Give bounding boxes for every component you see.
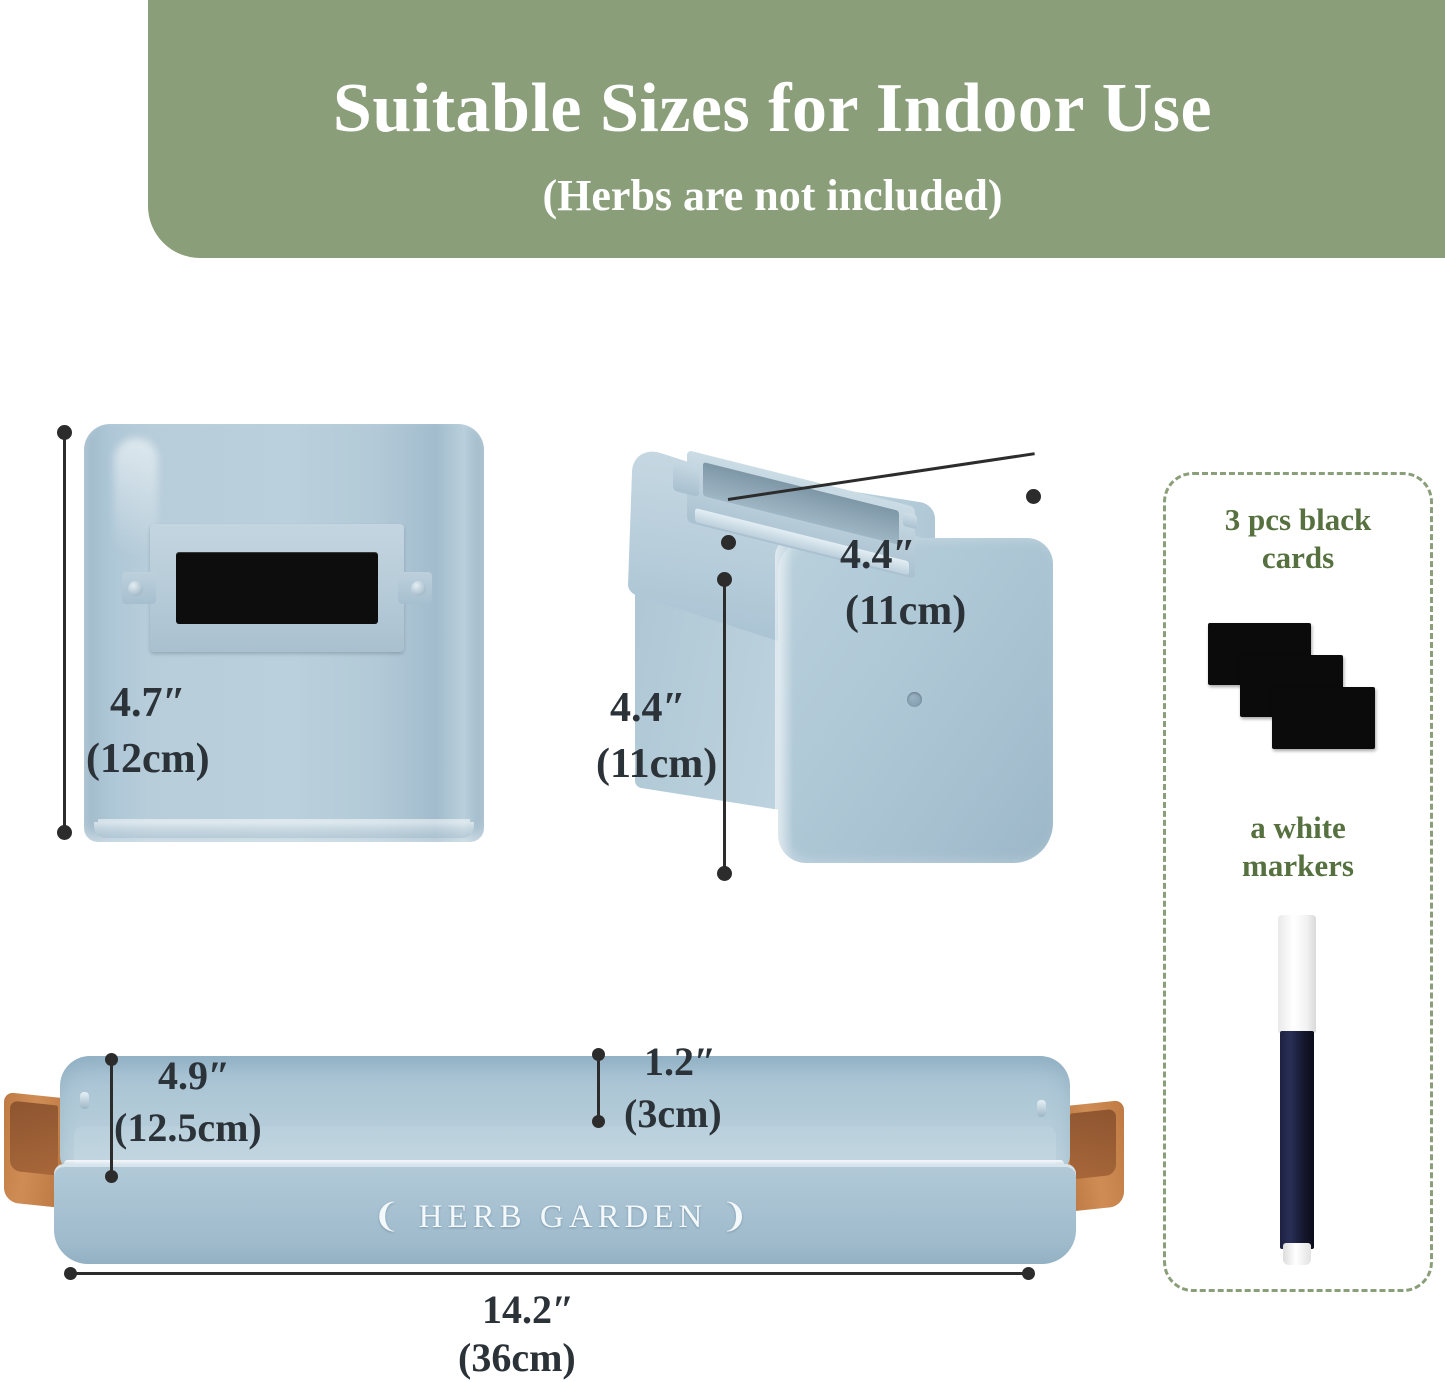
label-holder-tab-left [673,461,699,497]
white-marker-caption: a white markers [1166,809,1430,885]
white-marker-caption-line1: a white [1250,810,1346,845]
drain-hole-icon [907,692,922,707]
accessories-panel: 3 pcs black cards a white markers [1163,472,1433,1292]
dimension-endpoint-top [57,425,72,440]
dimension-endpoint-top [105,1053,118,1066]
white-marker-caption-line2: markers [1242,848,1354,883]
page-subtitle: (Herbs are not included) [148,174,1397,218]
black-label-card [176,552,378,624]
planter-front-height-cm: (12cm) [86,736,210,783]
page-title: Suitable Sizes for Indoor Use [148,74,1397,144]
white-marker-pen [1276,915,1318,1265]
marker-tip [1283,1243,1311,1265]
dimension-line-tray-depth [597,1053,600,1121]
planter-iso-width-inches: 4.4″ [840,532,916,579]
dimension-line-planter-iso-height [723,578,726,874]
black-cards-caption-line1: 3 pcs black [1225,502,1371,537]
dimension-line-tray-length [70,1272,1030,1275]
dimension-endpoint-right [1022,1267,1035,1280]
rivet-icon [128,581,143,596]
label-holder-tab-left [122,572,156,604]
tray-length-cm: (36cm) [458,1336,576,1381]
dimension-endpoint-bottom [105,1170,118,1183]
marker-cap [1278,915,1316,1033]
planter-angled-view [625,430,1045,875]
dimension-endpoint-left [721,535,736,550]
planter-iso-height-cm: (11cm) [596,741,717,788]
dimension-line-tray-width [110,1058,113,1176]
header-banner: Suitable Sizes for Indoor Use (Herbs are… [148,0,1445,258]
planter-iso-width-cm: (11cm) [845,588,966,635]
tray-width-inches: 4.9″ [158,1054,230,1099]
tray-depth-cm: (3cm) [624,1092,722,1137]
tray-brand-text: ❨ HERB GARDEN ❩ [18,1196,1108,1236]
leather-handle-left-inner [10,1101,58,1176]
dimension-endpoint-bottom [57,825,72,840]
infographic-canvas: Suitable Sizes for Indoor Use (Herbs are… [0,0,1445,1382]
screw-icon [1037,1100,1046,1117]
planter-front-height-inches: 4.7″ [110,680,186,727]
black-card [1272,687,1375,749]
label-holder-tab-right [398,572,432,604]
planter-iso-edge-highlight [775,538,793,858]
screw-icon [80,1092,89,1109]
leather-handle-right-inner [1070,1109,1116,1180]
black-cards-caption: 3 pcs black cards [1166,501,1430,577]
marker-barrel [1280,1031,1314,1249]
tray-length-inches: 14.2″ [482,1288,574,1333]
tray-width-cm: (12.5cm) [114,1106,262,1151]
tray-depth-inches: 1.2″ [644,1040,716,1085]
rivet-icon [411,581,426,596]
dimension-endpoint-top [592,1048,605,1061]
label-holder-front [150,524,404,652]
planter-front-base-rim [94,822,474,838]
planter-iso-height-inches: 4.4″ [610,685,686,732]
black-cards-caption-line2: cards [1262,540,1334,575]
dimension-endpoint-top [717,572,732,587]
dimension-line-planter-height [63,432,66,832]
dimension-endpoint-bottom [592,1115,605,1128]
dimension-endpoint-bottom [717,866,732,881]
dimension-endpoint-left [64,1267,77,1280]
dimension-endpoint-right [1026,489,1041,504]
